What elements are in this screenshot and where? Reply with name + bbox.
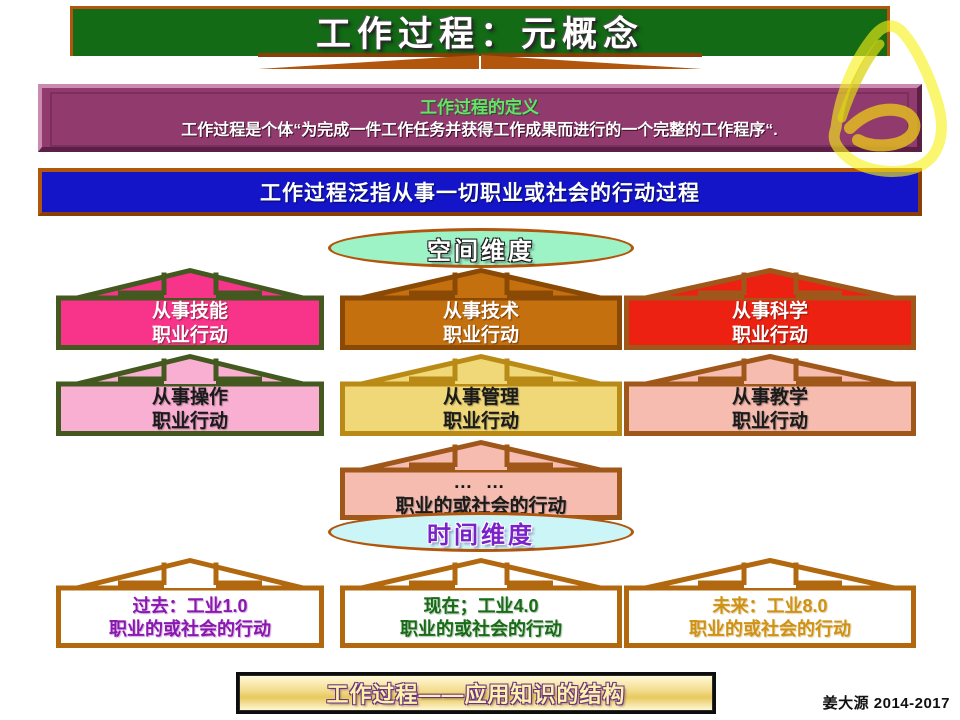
node-arrow-shaft [455,466,507,470]
space-dimension-label: 空间维度 [427,231,535,266]
space-node-r1-c2[interactable]: 从事技术职业行动 [340,266,622,350]
node-body [627,588,914,646]
footer-banner-text: 工作过程——应用知识的结构 [326,677,625,709]
definition-box-inner: 工作过程的定义 工作过程是个体“为完成一件工作任务并获得工作成果而进行的一个完整… [50,92,909,147]
node-arrow-shaft [455,294,507,298]
node-arrow-shaft [164,380,216,384]
node-arrow-shaft [455,584,507,588]
node-body [59,298,322,348]
time-node-c3[interactable]: 未来：工业8.0职业的或社会的行动 [624,556,916,648]
space-node-r2-c2[interactable]: 从事管理职业行动 [340,352,622,436]
time-node-c1[interactable]: 过去：工业1.0职业的或社会的行动 [56,556,324,648]
footer-banner: 工作过程——应用知识的结构 [236,672,716,714]
title-banner: 工作过程：元概念 [70,6,890,68]
slide-canvas: 工作过程：元概念 工作过程的定义 工作过程是个体“为完成一件工作任务并获得工作成… [0,0,960,720]
space-node-r2-c3[interactable]: 从事教学职业行动 [624,352,916,436]
node-body [343,588,620,646]
node-body [343,384,620,434]
node-body [627,298,914,348]
node-arrow-shaft [744,380,796,384]
space-node-r1-c1[interactable]: 从事技能职业行动 [56,266,324,350]
space-node-r2-c1[interactable]: 从事操作职业行动 [56,352,324,436]
etc-node[interactable]: … …职业的或社会的行动 [340,438,622,520]
title-ribbon-right [481,55,702,69]
node-arrow-shaft [164,584,216,588]
definition-body: 工作过程是个体“为完成一件工作任务并获得工作成果而进行的一个完整的工作程序“. [181,119,777,143]
node-body [343,470,620,518]
space-dimension-ellipse: 空间维度 [328,228,634,268]
time-dimension-label: 时间维度 [427,515,535,550]
node-arrow-shaft [164,294,216,298]
time-dimension-ellipse: 时间维度 [328,512,634,552]
definition-box: 工作过程的定义 工作过程是个体“为完成一件工作任务并获得工作成果而进行的一个完整… [38,84,922,152]
statement-box: 工作过程泛指从事一切职业或社会的行动过程 [38,168,922,216]
node-body [343,298,620,348]
node-body [627,384,914,434]
node-arrow-shaft [455,380,507,384]
node-body [59,384,322,434]
definition-heading: 工作过程的定义 [420,97,539,119]
time-node-c2[interactable]: 现在；工业4.0职业的或社会的行动 [340,556,622,648]
node-body [59,588,322,646]
page-title: 工作过程：元概念 [70,6,890,56]
author-signature: 姜大源 2014-2017 [823,692,950,713]
node-arrow-shaft [744,584,796,588]
node-arrow-shaft [744,294,796,298]
space-node-r1-c3[interactable]: 从事科学职业行动 [624,266,916,350]
footer-banner-inner: 工作过程——应用知识的结构 [239,675,713,711]
statement-text: 工作过程泛指从事一切职业或社会的行动过程 [260,177,700,207]
title-ribbon-left [258,55,479,69]
